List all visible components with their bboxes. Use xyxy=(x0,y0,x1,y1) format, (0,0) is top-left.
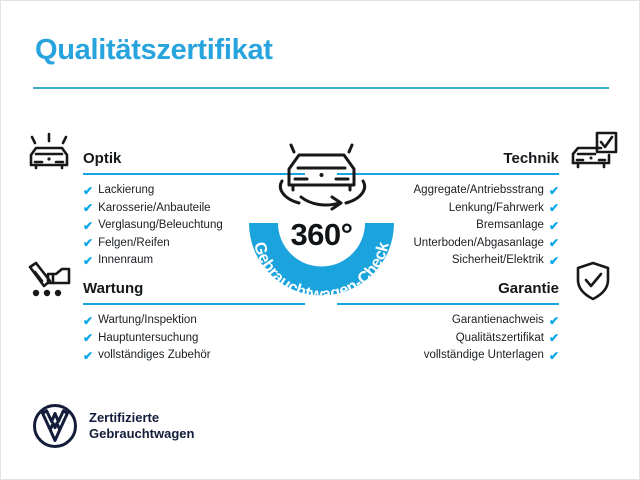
list-item-label: vollständige Unterlagen xyxy=(424,347,544,365)
badge-360-gebrauchtwagen-check: Gebrauchtwagen-Check 360° xyxy=(229,119,414,314)
vw-footer-line2: Gebrauchtwagen xyxy=(89,426,194,441)
check-icon: ✔ xyxy=(83,220,93,232)
list-item-label: Garantienachweis xyxy=(452,312,544,330)
vw-footer: Zertifizierte Gebrauchtwagen xyxy=(33,404,194,448)
section-garantie-list: Garantienachweis✔ Qualitätszertifikat✔ v… xyxy=(369,312,619,365)
car-checkbox-icon xyxy=(567,129,619,173)
list-item-label: Lenkung/Fahrwerk xyxy=(449,200,544,218)
list-item-label: Bremsanlage xyxy=(476,217,544,235)
certificate-page: Qualitätszertifikat Optik ✔Lackierung ✔K… xyxy=(0,0,640,480)
list-item-label: Wartung/Inspektion xyxy=(98,312,197,330)
page-title: Qualitätszertifikat xyxy=(35,34,273,67)
list-item-label: Hauptuntersuchung xyxy=(98,330,198,348)
check-icon: ✔ xyxy=(83,185,93,197)
list-item-label: Qualitätszertifikat xyxy=(456,330,544,348)
check-icon: ✔ xyxy=(549,315,559,327)
check-icon: ✔ xyxy=(549,202,559,214)
section-optik-title: Optik xyxy=(83,150,121,167)
list-item: vollständige Unterlagen✔ xyxy=(369,347,559,365)
list-item: Qualitätszertifikat✔ xyxy=(369,330,559,348)
list-item-label: vollständiges Zubehör xyxy=(98,347,211,365)
check-icon: ✔ xyxy=(549,332,559,344)
list-item-label: Karosserie/Anbauteile xyxy=(98,200,211,218)
list-item-label: Unterboden/Abgasanlage xyxy=(414,235,544,253)
car-shine-icon xyxy=(23,129,75,173)
check-icon: ✔ xyxy=(83,315,93,327)
check-icon: ✔ xyxy=(83,350,93,362)
section-wartung-list: ✔Wartung/Inspektion ✔Hauptuntersuchung ✔… xyxy=(23,312,273,365)
section-wartung-title: Wartung xyxy=(83,280,143,297)
car-rotate-icon xyxy=(280,145,364,209)
check-icon: ✔ xyxy=(549,350,559,362)
car-service-tool-icon xyxy=(23,259,75,303)
list-item: ✔vollständiges Zubehör xyxy=(83,347,273,365)
check-icon: ✔ xyxy=(549,237,559,249)
list-item-label: Felgen/Reifen xyxy=(98,235,170,253)
vw-logo xyxy=(33,404,77,448)
vw-footer-line1: Zertifizierte xyxy=(89,410,159,425)
list-item: Garantienachweis✔ xyxy=(369,312,559,330)
shield-check-icon xyxy=(567,259,619,303)
check-icon: ✔ xyxy=(549,185,559,197)
list-item: ✔Hauptuntersuchung xyxy=(83,330,273,348)
list-item-label: Lackierung xyxy=(98,182,154,200)
check-icon: ✔ xyxy=(83,332,93,344)
badge-center-value: 360° xyxy=(229,217,414,253)
section-technik-title: Technik xyxy=(503,150,559,167)
check-icon: ✔ xyxy=(83,202,93,214)
section-garantie-title: Garantie xyxy=(498,280,559,297)
title-divider xyxy=(33,87,609,89)
check-icon: ✔ xyxy=(549,220,559,232)
check-icon: ✔ xyxy=(83,237,93,249)
list-item-label: Aggregate/Antriebsstrang xyxy=(414,182,544,200)
list-item-label: Verglasung/Beleuchtung xyxy=(98,217,223,235)
vw-footer-text: Zertifizierte Gebrauchtwagen xyxy=(89,410,194,442)
list-item: ✔Wartung/Inspektion xyxy=(83,312,273,330)
